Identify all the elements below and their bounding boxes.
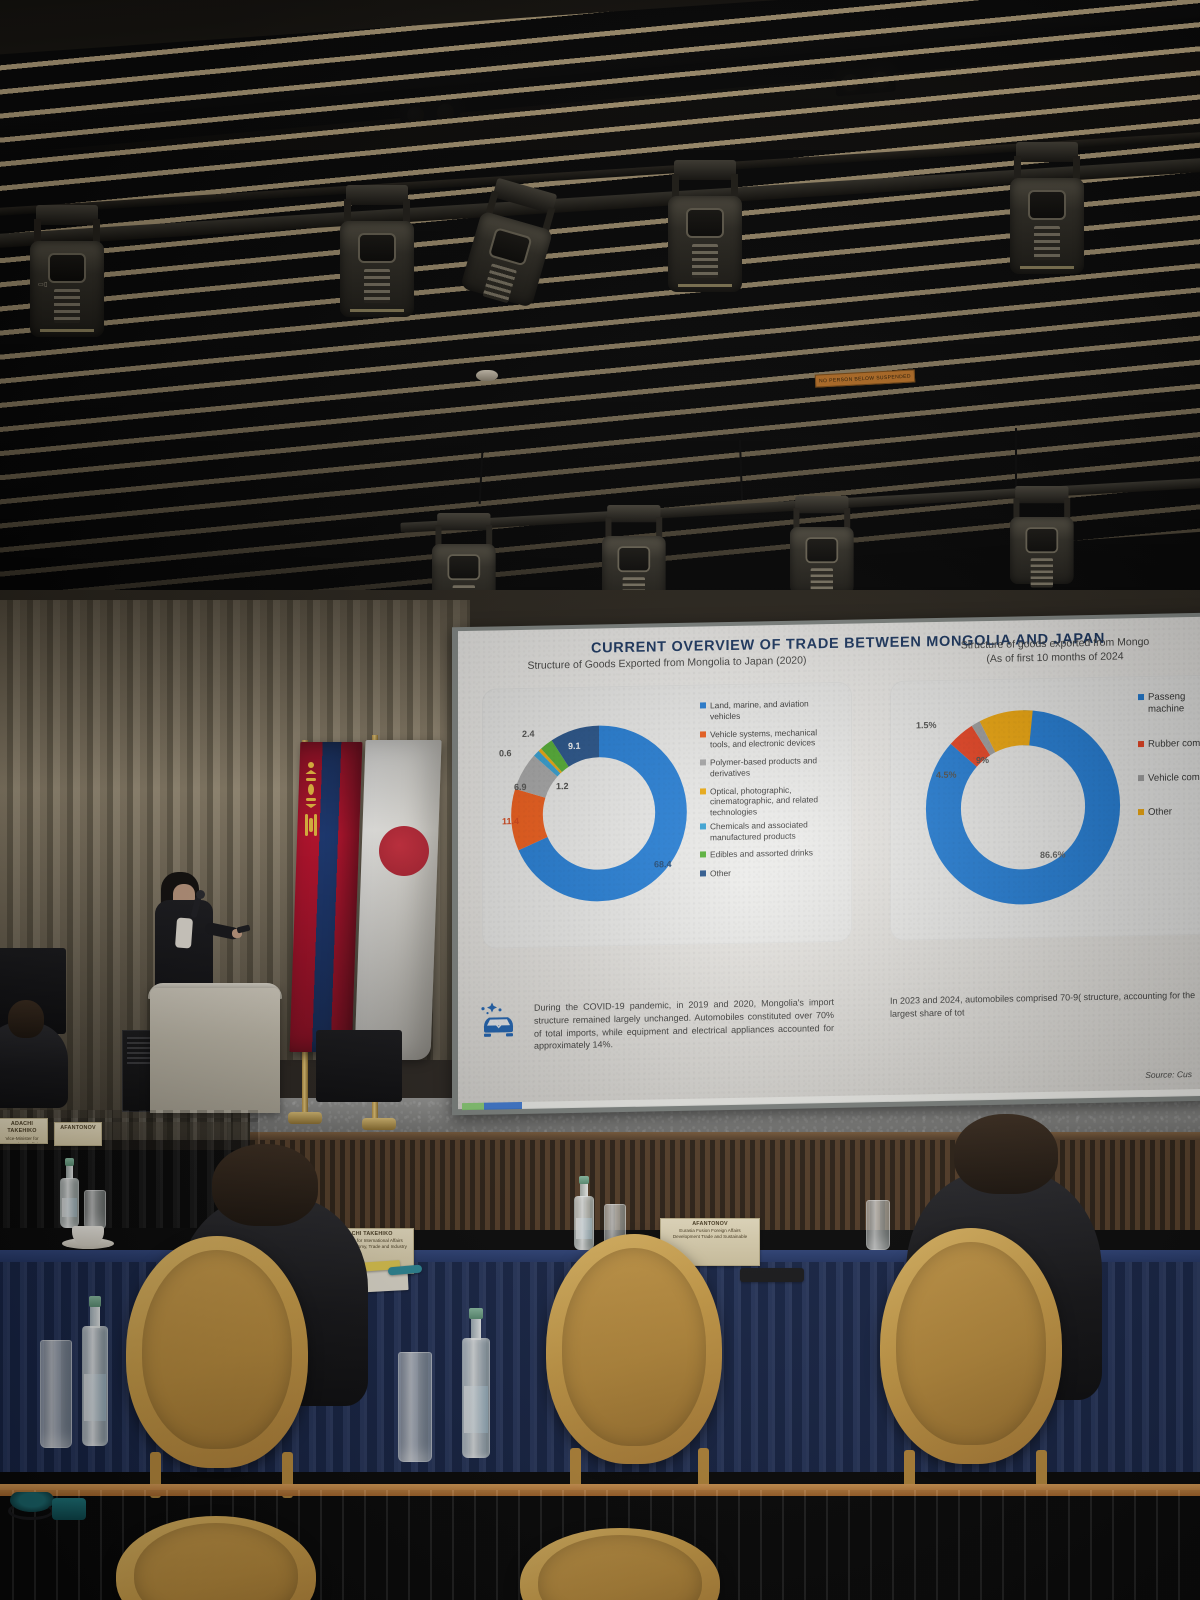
legend-swatch-icon [700,702,706,708]
light-heatsink [1031,558,1053,587]
water-bottle[interactable] [60,1178,79,1228]
right-panel-note: In 2023 and 2024, automobiles comprised … [890,989,1200,1021]
light-yoke [36,205,98,225]
placard-name: AFANTONOV [692,1221,728,1227]
japan-flag-base [362,1118,396,1130]
legend-swatch-icon [700,823,706,829]
slide-source: Source: Cus [1145,1069,1192,1080]
bottle-neck [66,1164,73,1179]
soyombo-emblem-icon [303,762,319,848]
drinking-glass[interactable] [40,1340,72,1448]
light-bezel [678,284,732,296]
bottle-label [84,1374,106,1421]
light-heatsink [483,263,517,303]
light-heatsink [364,269,390,303]
left-donut-label-2: 6.9 [514,782,527,792]
bottle-cap [89,1296,101,1307]
chair-cushion [896,1242,1045,1445]
loudspeaker-cabinet [316,1030,402,1102]
legend-item[interactable]: Polymer-based products and derivatives [700,755,832,779]
hinomaru-sun-icon [379,826,429,876]
light-lens-icon [1025,527,1058,553]
bottle-neck [471,1316,481,1340]
light-head: ▭▯ [30,241,104,337]
right-donut-label-1: 4.5% [936,770,957,780]
right-chart-panel: Structure of goods exported from Mongo (… [890,675,1200,941]
bottle-body [60,1178,79,1228]
projection-screen: CURRENT OVERVIEW OF TRADE BETWEEN MONGOL… [458,617,1200,1109]
podium [150,988,280,1113]
light-head [668,196,742,292]
light-yoke [437,513,490,530]
name-placard: ADACHI TAKEHIKO Vice-Minister for Intern… [0,1118,48,1144]
legend-label: Other [710,868,731,879]
legend-label: Land, marine, and aviation vehicles [710,698,832,722]
right-donut-chart: 86.6% 4.5% 1.5% 9% [918,700,1128,919]
legend-swatch-icon [700,759,706,765]
japan-flag [354,740,441,1060]
chair-cushion [142,1250,291,1450]
legend-item[interactable]: Vehicle compo [1138,771,1200,785]
legend-swatch-icon [700,788,706,794]
legend-label: Vehicle systems, mechanical tools, and e… [710,727,832,751]
truss-cable [1015,428,1017,490]
legend-swatch-icon [1138,809,1144,815]
legend-swatch-icon [1138,694,1144,700]
flag-shading [290,742,363,1052]
legend-label: Passeng machine [1148,691,1200,717]
legend-label: Optical, photographic, cinematographic, … [710,784,832,819]
light-head [340,221,414,317]
legend-swatch-icon [700,852,706,858]
light-lens-icon [617,546,650,572]
name-placard: AFANTONOV [54,1122,102,1146]
left-donut-label-4: 1.2 [556,781,569,791]
water-bottle[interactable] [462,1338,490,1458]
bottle-neck [580,1182,587,1197]
banquet-chair-foreground[interactable] [520,1528,720,1600]
banquet-chair[interactable] [546,1234,722,1464]
right-donut-label-0: 86.6% [1040,850,1066,860]
light-head [790,527,854,594]
light-yoke [607,505,660,522]
light-lens-icon [447,554,480,580]
legend-item[interactable]: Other [1138,806,1200,820]
light-lens-icon [1028,190,1066,220]
banquet-chair-foreground[interactable] [116,1516,316,1600]
light-yoke [674,160,736,180]
placard-name: AFANTONOV [60,1125,96,1131]
flag-shading [354,740,441,1060]
light-yoke [1016,142,1078,162]
legend-item[interactable]: Rubber compos [1138,737,1200,751]
light-lens-icon [686,208,724,238]
bottle-label [464,1386,488,1433]
light-head [1010,517,1074,584]
light-brand-mark: ▭▯ [38,281,48,288]
chair-cushion [562,1248,706,1446]
bottle-label [62,1198,78,1217]
mongolia-flag [290,742,363,1052]
right-chart-caption: Structure of goods exported from Mongo (… [890,635,1200,669]
legend-swatch-icon [1138,741,1144,747]
legend-item[interactable]: Optical, photographic, cinematographic, … [700,784,832,819]
audience-person-head [954,1114,1058,1194]
audience-person-head [212,1144,318,1226]
light-lens-icon [805,537,838,563]
legend-item[interactable]: Vehicle systems, mechanical tools, and e… [700,727,832,751]
legend-item[interactable]: Other [700,866,832,879]
light-lens-icon [358,233,396,263]
light-heatsink [692,244,718,278]
right-chart-legend: Passeng machine Rubber compos Vehicle co… [1138,691,1200,827]
bottle-cap [579,1176,589,1184]
car-sparkle-icon [478,996,530,1041]
banquet-chair[interactable] [880,1228,1062,1464]
legend-item[interactable]: Edibles and assorted drinks [700,847,832,860]
right-donut-svg [918,700,1128,914]
left-chart-panel: Structure of Goods Exported from Mongoli… [482,682,852,949]
light-bezel [40,329,94,341]
placard-line2: Vice-Minister for International Affairs [0,1136,46,1144]
placard-name: ADACHI TAKEHIKO [7,1121,36,1134]
microphone-head-icon [196,890,205,899]
bottle-neck [90,1304,99,1328]
light-yoke [346,185,408,205]
legend-label: Other [1148,807,1172,820]
left-donut-label-6: 9.1 [568,741,581,751]
presenter-blouse [175,917,193,948]
left-donut-chart: 68.4 11.4 6.9 0.6 1.2 2.4 9.1 [504,717,694,916]
smoke-detector-icon [476,370,498,381]
light-lens-icon [48,253,86,283]
headset-receiver[interactable] [52,1498,86,1520]
bottle-body [462,1338,490,1458]
right-donut-label-3: 9% [976,755,989,765]
right-donut-label-2: 1.5% [916,720,937,730]
light-lens-icon [488,227,533,266]
light-yoke [795,496,848,513]
photo-scene: ▭▯ [0,0,1200,1600]
light-bezel [1020,266,1074,278]
legend-item[interactable]: Chemicals and associated manufactured pr… [700,819,832,843]
remote-device[interactable] [740,1268,804,1282]
left-donut-svg [504,717,694,911]
legend-item[interactable]: Passeng machine [1138,691,1200,717]
seated-person-head [8,1000,44,1038]
drinking-glass[interactable] [398,1352,432,1462]
light-heatsink [54,289,80,323]
left-donut-label-3: 0.6 [499,748,512,758]
legend-swatch-icon [1138,775,1144,781]
bottle-cap [65,1158,74,1166]
light-yoke [1015,486,1068,503]
left-chart-legend: Land, marine, and aviation vehicles Vehi… [700,698,832,886]
water-bottle[interactable] [82,1326,108,1446]
light-heatsink [1034,226,1060,260]
bottle-body [82,1326,108,1446]
legend-swatch-icon [700,731,706,737]
drinking-glass[interactable] [84,1190,106,1230]
left-donut-label-0: 68.4 [654,859,672,869]
legend-label: Rubber compos [1148,737,1200,751]
legend-label: Vehicle compo [1148,772,1200,785]
left-donut-label-1: 11.4 [502,816,519,826]
light-head [1010,178,1084,274]
legend-label: Polymer-based products and derivatives [710,755,832,779]
legend-item[interactable]: Land, marine, and aviation vehicles [700,698,832,722]
bottle-cap [469,1308,482,1319]
banquet-chair[interactable] [126,1236,308,1468]
legend-label: Chemicals and associated manufactured pr… [710,819,832,843]
headset-band-icon [8,1502,54,1520]
legend-swatch-icon [700,870,706,876]
light-bezel [350,309,404,321]
mongolia-flag-base [288,1112,322,1124]
legend-label: Edibles and assorted drinks [710,848,813,861]
left-donut-label-5: 2.4 [522,729,535,739]
left-panel-note: During the COVID-19 pandemic, in 2019 an… [534,996,834,1053]
